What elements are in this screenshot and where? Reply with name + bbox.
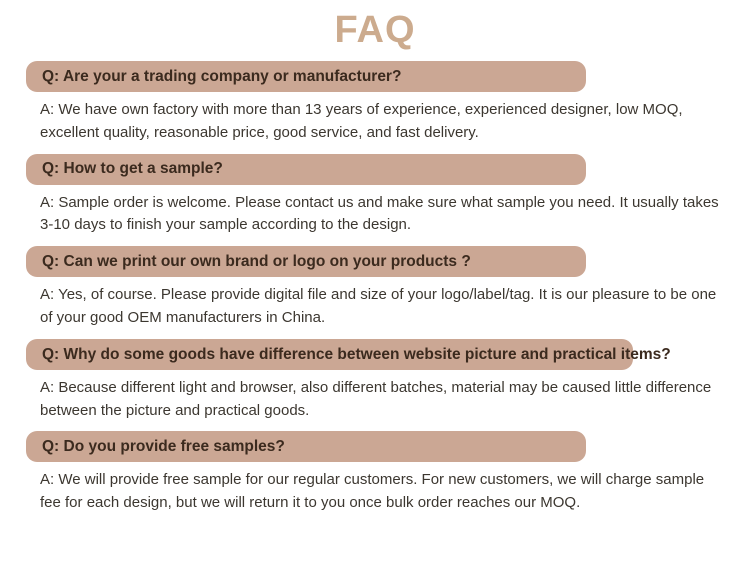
faq-page: FAQ Q: Are your a trading company or man…: [0, 0, 750, 571]
faq-item: Q: Do you provide free samples? A: We wi…: [26, 431, 750, 515]
faq-question-bar[interactable]: Q: Can we print our own brand or logo on…: [26, 246, 586, 277]
faq-question-bar[interactable]: Q: How to get a sample?: [26, 154, 586, 185]
page-title: FAQ: [0, 0, 750, 49]
faq-answer-text: A: We have own factory with more than 13…: [26, 99, 750, 145]
faq-list: Q: Are your a trading company or manufac…: [0, 61, 750, 515]
faq-question-bar[interactable]: Q: Are your a trading company or manufac…: [26, 61, 586, 92]
faq-question-text: Q: Are your a trading company or manufac…: [42, 69, 401, 85]
faq-item: Q: Can we print our own brand or logo on…: [26, 246, 750, 330]
faq-item: Q: Why do some goods have difference bet…: [26, 339, 750, 423]
faq-question-text: Q: How to get a sample?: [42, 161, 223, 177]
faq-question-text: Q: Why do some goods have difference bet…: [42, 347, 671, 363]
faq-answer-text: A: Sample order is welcome. Please conta…: [26, 192, 750, 238]
faq-question-text: Q: Can we print our own brand or logo on…: [42, 254, 471, 270]
faq-answer-text: A: Because different light and browser, …: [26, 377, 750, 423]
faq-answer-text: A: Yes, of course. Please provide digita…: [26, 284, 750, 330]
faq-answer-text: A: We will provide free sample for our r…: [26, 469, 750, 515]
faq-item: Q: How to get a sample? A: Sample order …: [26, 154, 750, 238]
faq-question-bar[interactable]: Q: Why do some goods have difference bet…: [26, 339, 633, 370]
faq-item: Q: Are your a trading company or manufac…: [26, 61, 750, 145]
faq-question-bar[interactable]: Q: Do you provide free samples?: [26, 431, 586, 462]
faq-question-text: Q: Do you provide free samples?: [42, 439, 285, 455]
